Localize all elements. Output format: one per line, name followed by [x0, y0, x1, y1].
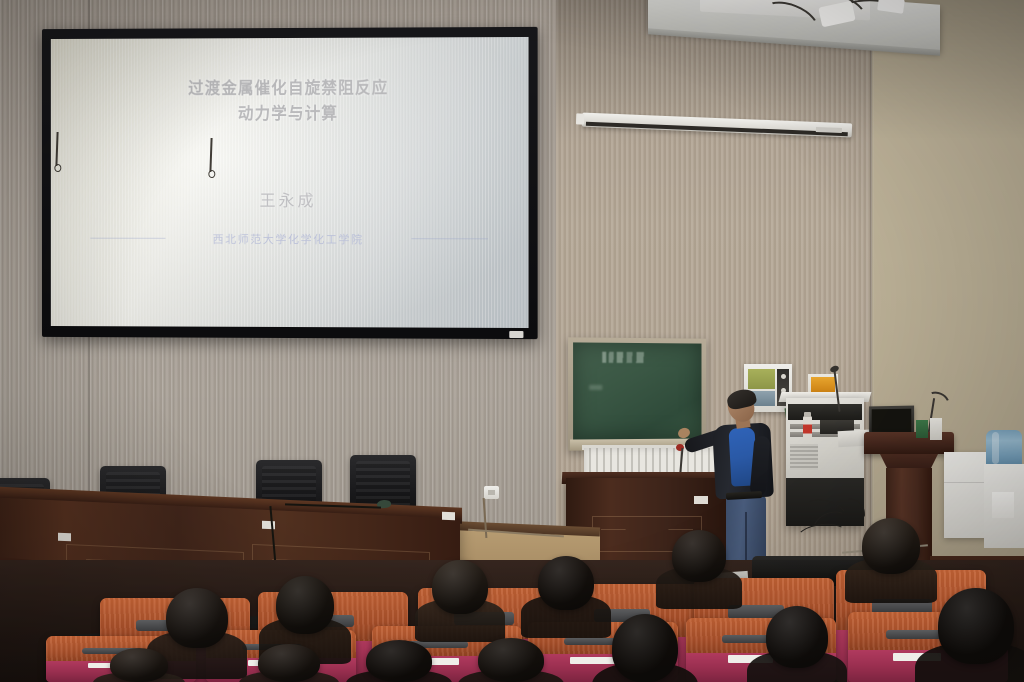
seat-number-tag [570, 657, 615, 664]
cabinet-indicator [781, 374, 786, 379]
power-outlet [484, 486, 499, 499]
bottle-cap [804, 412, 811, 417]
blind-brand-label [816, 127, 842, 133]
attendee-head [258, 644, 320, 682]
lecture-hall-photo: 过渡金属催化自旋禁阻反应 动力学与计算 王永成 西北师范大学化学化工学院 [0, 0, 1024, 682]
red-thermos-bottle [803, 416, 812, 440]
attendee-head [166, 588, 228, 648]
rack-vent [790, 444, 818, 470]
table-tag [58, 533, 71, 542]
attendee-head [938, 588, 1014, 664]
water-bottle [986, 430, 1022, 468]
screen-frame-label [509, 331, 523, 338]
attendee-head [366, 640, 432, 682]
table-tag [442, 512, 455, 521]
attendee-head [538, 556, 594, 610]
rack-dark-module [788, 404, 862, 420]
chalkboard-surface [573, 342, 701, 439]
attendee-head [612, 614, 678, 682]
lectern-neck [880, 454, 938, 468]
slide-title-line-1: 过渡金属催化自旋禁阻反应 [188, 77, 388, 102]
attendee-head [672, 530, 726, 582]
chalk-writing [602, 351, 654, 363]
green-container [916, 420, 928, 438]
screen-surface: 过渡金属催化自旋禁阻反应 动力学与计算 王永成 西北师范大学化学化工学院 [51, 37, 529, 328]
attendee-head [478, 638, 544, 682]
attendee-head [276, 576, 334, 634]
slide-title-line-2: 动力学与计算 [188, 101, 388, 126]
slide-author: 王永成 [260, 187, 317, 211]
cabinet-green-panel [748, 369, 775, 389]
attendee-head [110, 648, 168, 682]
slide-affiliation: 西北师范大学化学化工学院 [51, 231, 529, 248]
projection-screen: 过渡金属催化自旋禁阻反应 动力学与计算 王永成 西北师范大学化学化工学院 [42, 27, 538, 339]
chalk-smudge [589, 385, 602, 390]
dispenser-label [992, 492, 1014, 518]
attendee-head [862, 518, 920, 574]
white-container [930, 418, 942, 440]
presentation-slide: 过渡金属催化自旋禁阻反应 动力学与计算 王永成 西北师范大学化学化工学院 [51, 37, 529, 328]
slide-title: 过渡金属催化自旋禁阻反应 动力学与计算 [188, 77, 388, 127]
blind-end-cap [576, 113, 584, 124]
attendee-head [432, 560, 488, 614]
attendee-head [766, 606, 828, 668]
